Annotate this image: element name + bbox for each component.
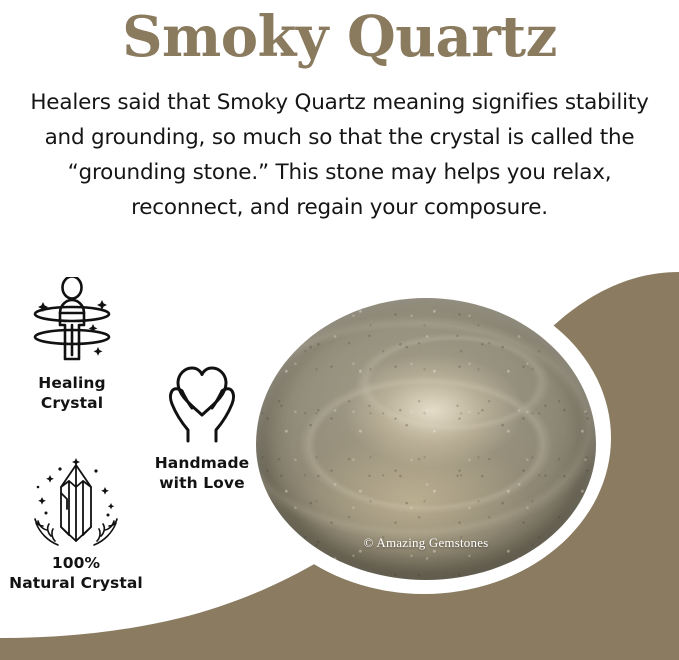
product-infographic: Smoky Quartz Healers said that Smoky Qua… — [0, 0, 679, 660]
badge-label: Healing Crystal — [6, 373, 138, 413]
intro-paragraph: Healers said that Smoky Quartz meaning s… — [14, 85, 665, 225]
figure-with-energy-rings-icon — [22, 277, 122, 369]
badge-natural-crystal: 100% Natural Crystal — [2, 457, 150, 593]
watermark-text: © Amazing Gemstones — [256, 535, 596, 551]
page-title: Smoky Quartz — [0, 2, 679, 72]
badge-healing-crystal: Healing Crystal — [6, 277, 138, 413]
badge-label: Handmade with Love — [136, 453, 268, 493]
gemstone-image: © Amazing Gemstones — [256, 298, 596, 580]
badge-label: 100% Natural Crystal — [2, 553, 150, 593]
hands-holding-heart-icon — [152, 357, 252, 449]
badge-handmade-with-love: Handmade with Love — [136, 357, 268, 493]
crystal-point-with-laurels-icon — [20, 457, 132, 549]
